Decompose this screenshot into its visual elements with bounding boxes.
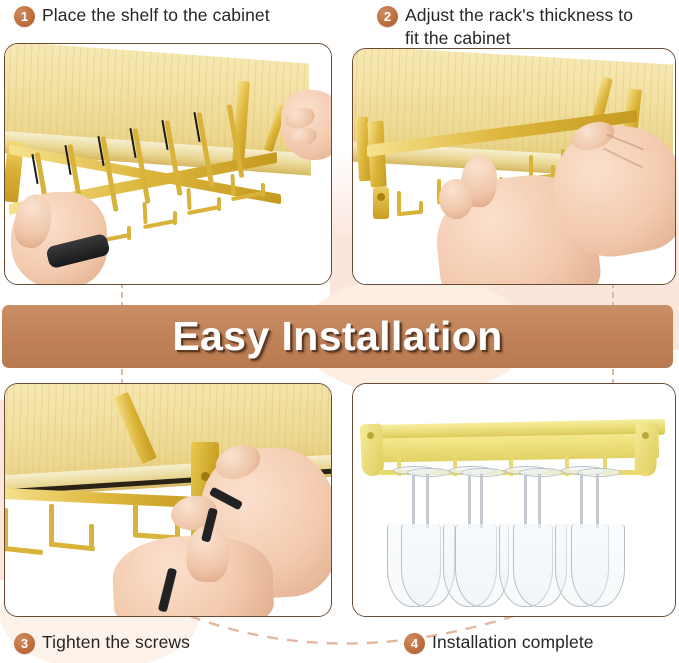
step-4-badge: 4 [404,633,425,654]
step-1-caption-text: Place the shelf to the cabinet [42,4,270,27]
glass-stem [524,472,527,528]
glass-hook [529,155,533,177]
glass-hook [5,546,43,555]
glass-stem [596,474,599,528]
glass-hook [49,504,54,546]
glass-stem [412,472,415,528]
glass-hook [186,188,191,210]
step-1-caption: 1 Place the shelf to the cabinet [14,4,324,27]
step-3-caption-text: Tighten the screws [42,631,190,654]
glass-hook [419,201,423,213]
glass-foot [407,468,451,477]
step-2-image [352,48,676,285]
glass-bowl [571,524,625,607]
glass-hook [5,508,8,550]
step-4-caption-text: Installation complete [432,631,594,654]
glass-hook [397,191,401,213]
step-1-badge: 1 [14,6,35,27]
glass-stem [468,472,471,528]
screw-head-left [377,193,385,201]
banner: Easy Installation [2,305,673,368]
glass-hook [127,226,131,240]
gold-bracket-left-foot [373,187,389,219]
step-4-caption: 4 Installation complete [404,631,674,654]
gold-end-bracket-right [634,422,658,477]
step-3-badge: 3 [14,633,35,654]
glass-hook [133,504,138,536]
installation-guide-page: 1 Place the shelf to the cabinet [0,0,679,663]
gold-mount-plate [369,433,659,462]
screw-head-right [642,432,649,439]
glass-stem [580,472,583,528]
glass-stem [538,474,541,528]
step-3-image [4,383,332,617]
glass-hook [261,183,265,197]
banner-title: Easy Installation [172,313,502,360]
glass-hook [173,211,177,225]
glass-hook [217,197,221,211]
glass-stem [426,474,429,528]
glass-foot [461,468,505,477]
step-2-caption-text: Adjust the rack's thickness to fit the c… [405,4,633,50]
step-2-caption: 2 Adjust the rack's thickness to fit the… [377,4,677,50]
glass-foot [519,468,563,477]
step-4-photo [353,384,675,616]
step-3-caption: 3 Tighten the screws [14,631,314,654]
glass-hook [230,174,235,196]
step-4-image [352,383,676,617]
glass-hook [187,205,221,215]
screw-head-left [367,432,374,439]
glass-stem [480,474,483,528]
glass-hook [143,219,177,229]
step-3-photo [5,384,331,616]
step-1-photo [5,44,331,284]
glass-foot [577,468,621,477]
step-1-image [4,43,332,285]
step-2-photo [353,49,675,284]
glass-hook [142,202,147,224]
step-2-badge: 2 [377,6,398,27]
glass-hook [89,524,94,550]
